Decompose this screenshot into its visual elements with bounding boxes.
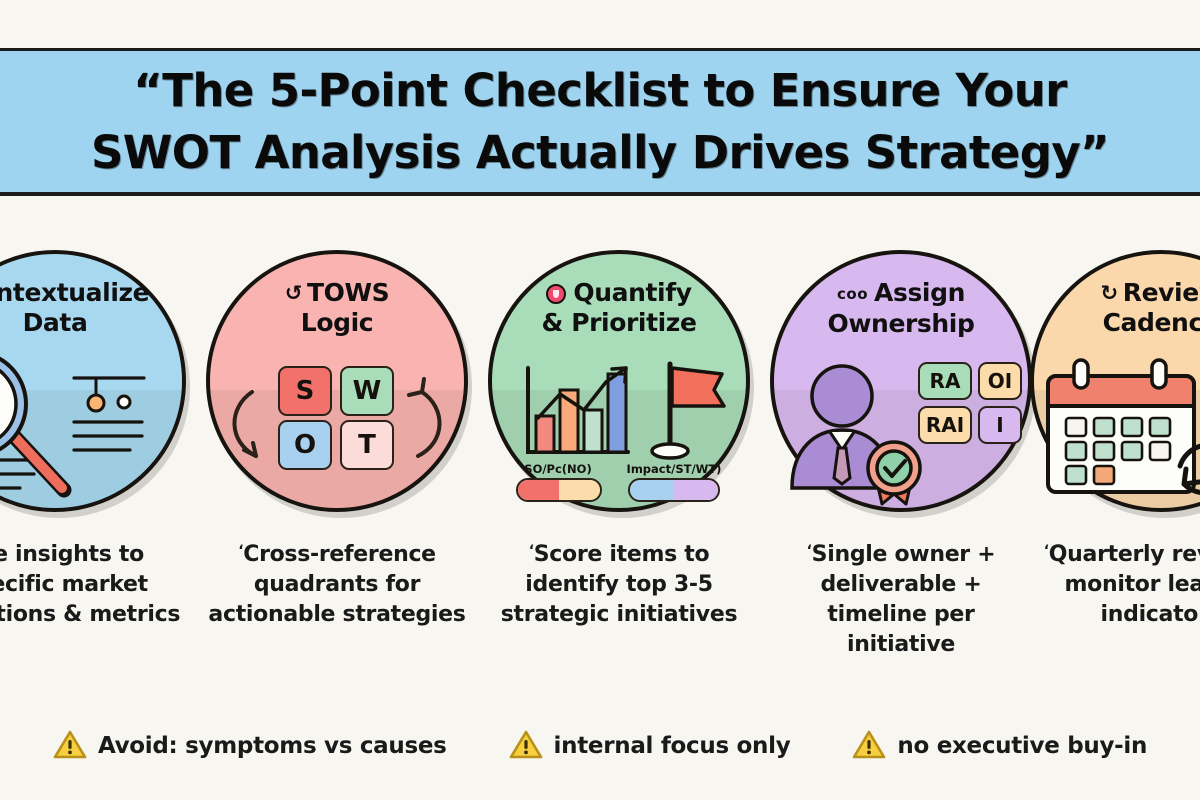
warning-text: Avoid: symptoms vs causes	[98, 733, 447, 759]
step-title-line-2: & Prioritize	[541, 308, 696, 337]
coo-label-icon: coo	[837, 285, 868, 303]
step-title: ↻Review Cadence	[1040, 278, 1200, 338]
title-line-1: “The 5-Point Checklist to Ensure Your	[133, 60, 1066, 122]
warnings-row: Avoid: symptoms vs causes internal focus…	[0, 718, 1200, 774]
raci-chip-1: OI	[978, 362, 1022, 400]
caption-review-cadence: ‘Quarterly review + monitor leading indi…	[1030, 536, 1200, 630]
step-title: Quantify & Prioritize	[498, 278, 740, 338]
warning-item: no executive buy-in	[852, 729, 1147, 764]
warning-triangle-icon	[852, 729, 886, 764]
warning-item: Avoid: symptoms vs causes	[53, 729, 447, 764]
swot-cell-w: W	[340, 366, 394, 416]
step-title-line-1: Assign	[874, 278, 965, 307]
caption-text: Tie insights to specific market conditio…	[0, 542, 180, 627]
pill-right	[628, 478, 720, 502]
step-title-line-2: Ownership	[828, 309, 975, 338]
step-title-line-2: Logic	[301, 308, 373, 337]
raci-chip-2: RAI	[918, 406, 972, 444]
step-contextualize-data[interactable]: Contextualize Data	[0, 250, 186, 514]
person-badge-raci-icon: RA OI RAI I	[770, 356, 1032, 506]
step-title: ↺TOWS Logic	[216, 278, 458, 338]
step-quantify-prioritize[interactable]: Quantify & Prioritize	[488, 250, 750, 514]
swot-cell-o: O	[278, 420, 332, 470]
infographic-canvas: “The 5-Point Checklist to Ensure Your SW…	[0, 0, 1200, 800]
swot-cell-s: S	[278, 366, 332, 416]
caption-tows-logic: ‘Cross-reference quadrants for actionabl…	[206, 536, 468, 630]
step-title-line-1: Quantify	[573, 278, 691, 307]
caption-quantify-prioritize: ‘Score items to identify top 3-5 strateg…	[488, 536, 750, 630]
warning-item: internal focus only	[509, 729, 791, 764]
caption-contextualize-data: ‘Tie insights to specific market conditi…	[0, 536, 186, 630]
pill-left-label: SO/Pc(NO)	[510, 462, 606, 476]
raci-chip-3: I	[978, 406, 1022, 444]
caption-text: Cross-reference quadrants for actionable…	[208, 542, 465, 627]
warning-triangle-icon	[509, 729, 543, 764]
step-title: cooAssign Ownership	[780, 278, 1022, 339]
swot-cell-t: T	[340, 420, 394, 470]
step-title-line-1: TOWS	[307, 278, 389, 307]
raci-chip-0: RA	[918, 362, 972, 400]
caption-assign-ownership: ‘Single owner + deliverable + timeline p…	[770, 536, 1032, 660]
title-line-2: SWOT Analysis Actually Drives Strategy”	[91, 122, 1109, 184]
checklist-steps-row: Contextualize Data	[0, 250, 1200, 518]
refresh-arrow-icon: ↻	[1101, 281, 1118, 305]
priority-badge-icon	[546, 284, 566, 304]
loop-arrow-icon: ↺	[285, 281, 302, 305]
bar-chart-flag-icon: SO/Pc(NO) Impact/ST/WT)	[488, 356, 750, 506]
step-title: Contextualize Data	[0, 278, 176, 338]
warning-text: internal focus only	[554, 733, 791, 759]
step-title-line-2: Data	[23, 308, 88, 337]
caption-text: Score items to identify top 3-5 strategi…	[501, 542, 738, 627]
warning-text: no executive buy-in	[897, 733, 1147, 759]
caption-text: Quarterly review + monitor leading indic…	[1049, 542, 1200, 627]
warning-triangle-icon	[53, 729, 87, 764]
pill-left	[516, 478, 602, 502]
magnifier-data-icon	[0, 356, 186, 506]
step-assign-ownership[interactable]: cooAssign Ownership RA OI	[770, 250, 1032, 514]
calendar-refresh-icon	[1030, 356, 1200, 506]
pill-right-label: Impact/ST/WT)	[616, 462, 732, 476]
step-captions-row: ‘Tie insights to specific market conditi…	[0, 536, 1200, 636]
step-review-cadence[interactable]: ↻Review Cadence	[1030, 250, 1200, 514]
step-title-line-2: Cadence	[1103, 308, 1200, 337]
step-title-line-1: Contextualize	[0, 278, 149, 307]
step-title-line-1: Review	[1123, 278, 1200, 307]
swot-matrix-icon: S W O T	[206, 356, 468, 506]
title-banner: “The 5-Point Checklist to Ensure Your SW…	[0, 48, 1200, 196]
step-tows-logic[interactable]: ↺TOWS Logic S W O T	[206, 250, 468, 514]
caption-text: Single owner + deliverable + timeline pe…	[812, 542, 996, 657]
